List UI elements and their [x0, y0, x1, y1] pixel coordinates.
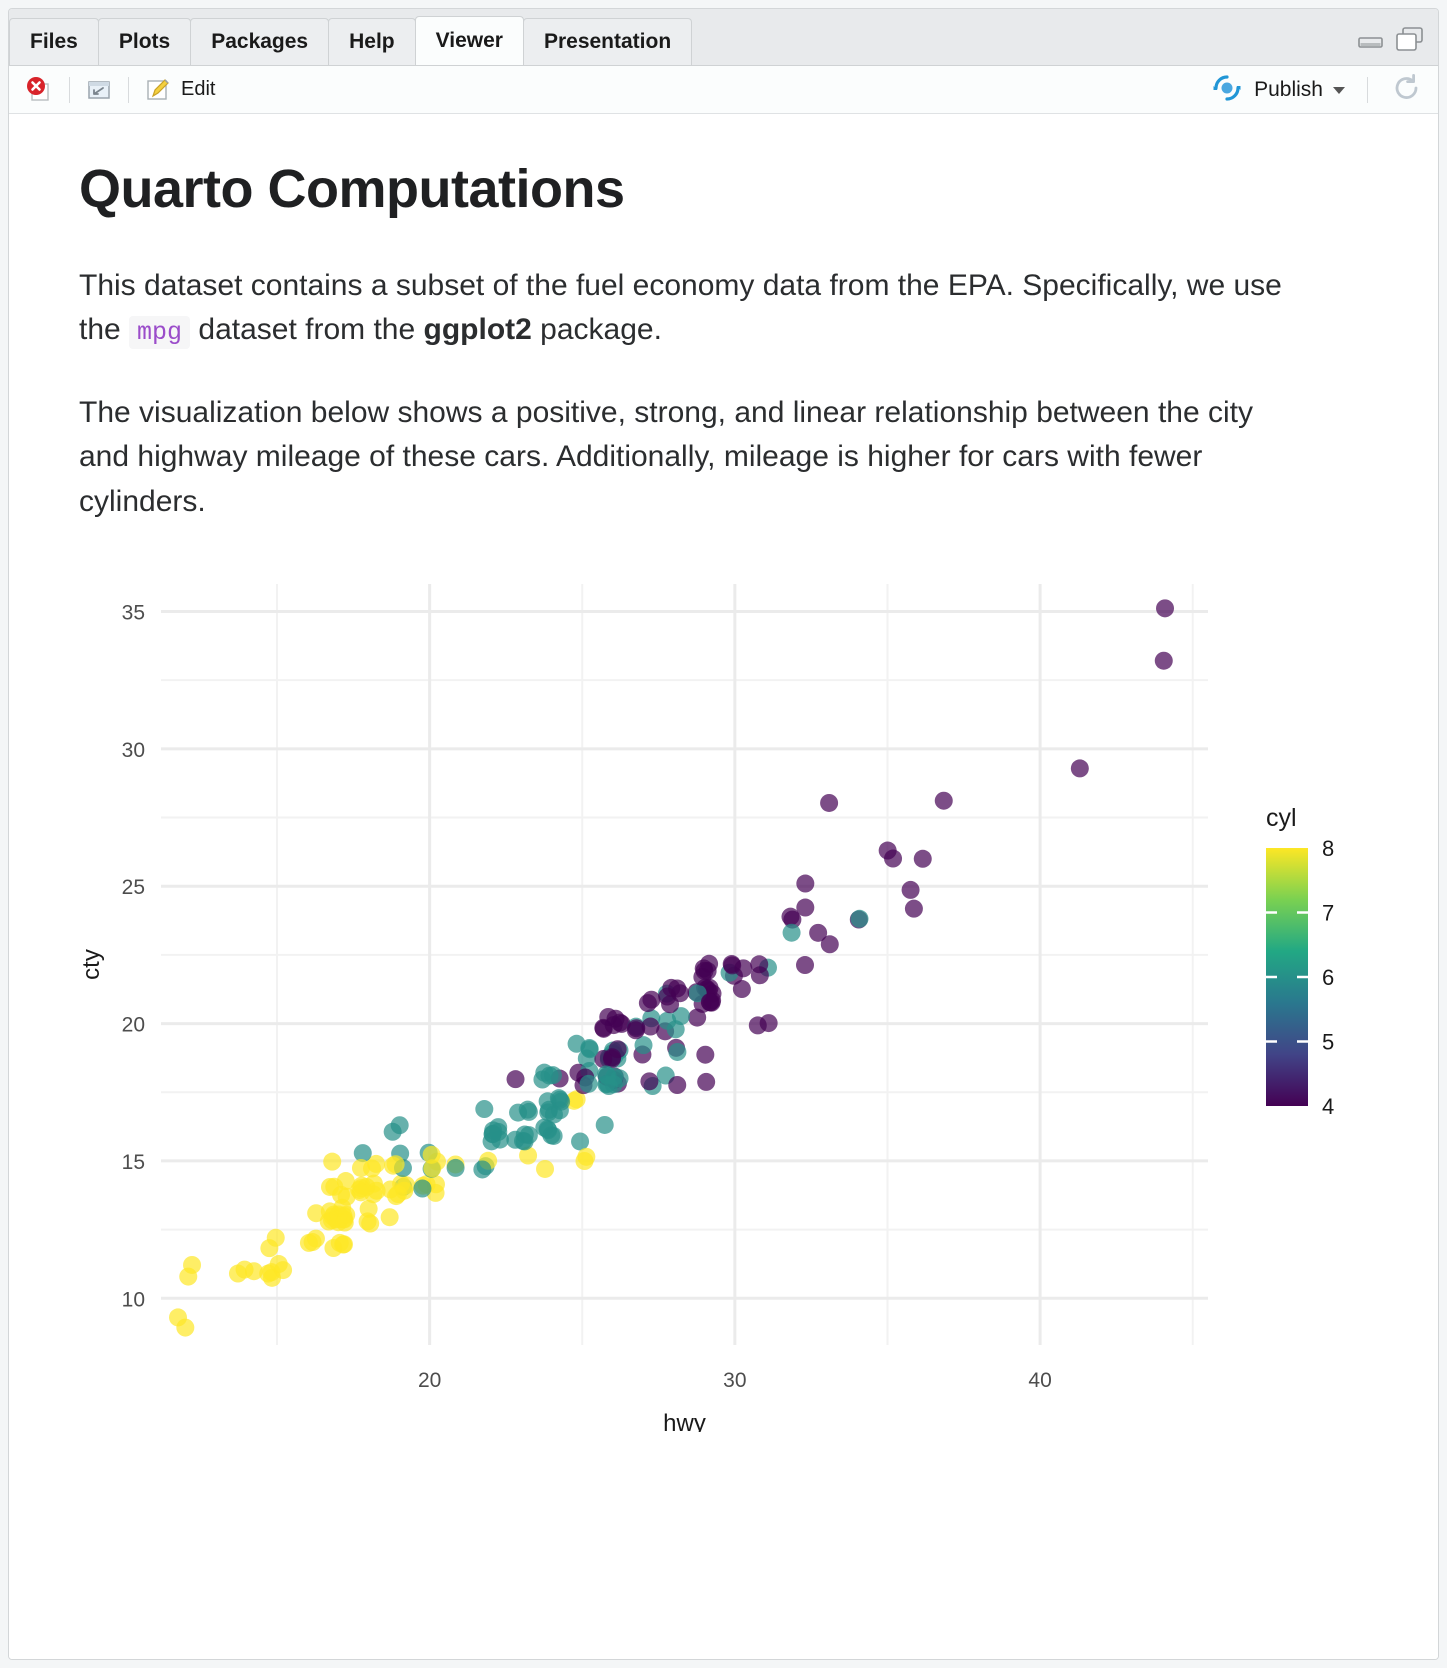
- data-point: [423, 1146, 441, 1164]
- data-point: [577, 1148, 595, 1166]
- tab-plots[interactable]: Plots: [98, 18, 191, 65]
- data-point: [902, 881, 920, 899]
- data-point: [536, 1160, 554, 1178]
- tab-help[interactable]: Help: [328, 18, 416, 65]
- data-point: [781, 908, 799, 926]
- pane-tab-bar: Files Plots Packages Help Viewer Present…: [9, 9, 1438, 66]
- x-axis-title: hwy: [663, 1410, 706, 1432]
- paragraph-description: The visualization below shows a positive…: [79, 391, 1294, 524]
- refresh-icon[interactable]: [1390, 72, 1424, 109]
- data-point: [325, 1178, 343, 1196]
- viewer-window: Files Plots Packages Help Viewer Present…: [8, 8, 1439, 1660]
- x-tick-label: 30: [723, 1369, 746, 1392]
- data-point: [820, 794, 838, 812]
- data-point: [696, 1046, 714, 1064]
- data-point: [229, 1264, 247, 1282]
- data-point: [697, 1073, 715, 1091]
- paragraph-intro-part2: dataset from the: [190, 313, 423, 346]
- maximize-icon[interactable]: [1396, 27, 1424, 58]
- data-point: [363, 1159, 381, 1177]
- data-point: [1155, 652, 1173, 670]
- data-point: [447, 1159, 465, 1177]
- data-point: [323, 1153, 341, 1171]
- y-tick-label: 15: [122, 1151, 145, 1174]
- cty-vs-hwy-scatterplot: 101520253035203040hwyctycyl45678: [73, 562, 1363, 1432]
- data-point: [389, 1185, 407, 1203]
- data-point: [489, 1123, 507, 1141]
- data-point: [361, 1214, 379, 1232]
- scatter-plot-figure: 101520253035203040hwyctycyl45678: [73, 562, 1363, 1432]
- data-point: [337, 1206, 355, 1224]
- data-point: [851, 910, 869, 928]
- data-point: [642, 991, 660, 1009]
- data-point: [668, 979, 686, 997]
- legend-title: cyl: [1266, 804, 1297, 832]
- data-point: [603, 1048, 621, 1066]
- data-point: [667, 1020, 685, 1038]
- chevron-down-icon[interactable]: [1333, 87, 1345, 94]
- viewer-toolbar: Edit Publish: [9, 66, 1438, 114]
- x-tick-label: 20: [418, 1369, 441, 1392]
- data-point: [914, 850, 932, 868]
- data-point: [668, 1076, 686, 1094]
- data-point: [796, 898, 814, 916]
- legend-tick-label: 6: [1322, 965, 1334, 990]
- data-point: [352, 1183, 370, 1201]
- tab-packages[interactable]: Packages: [190, 18, 329, 65]
- data-point: [307, 1204, 325, 1222]
- data-point: [796, 956, 814, 974]
- data-point: [300, 1234, 318, 1252]
- y-axis-title: cty: [78, 949, 105, 980]
- inline-code-mpg: mpg: [129, 316, 190, 349]
- y-tick-label: 35: [122, 601, 145, 624]
- legend-tick-label: 8: [1322, 836, 1334, 861]
- y-tick-label: 10: [122, 1288, 145, 1311]
- data-point: [905, 900, 923, 918]
- data-point: [749, 1016, 767, 1034]
- show-in-new-window-icon[interactable]: [82, 75, 116, 105]
- paragraph-intro-part3: package.: [532, 313, 662, 346]
- strong-ggplot2: ggplot2: [424, 313, 532, 346]
- data-point: [335, 1235, 353, 1253]
- data-point: [668, 1043, 686, 1061]
- data-point: [260, 1239, 278, 1257]
- data-point: [597, 1075, 615, 1093]
- toolbar-separator-3: [1367, 77, 1368, 103]
- publish-button-label[interactable]: Publish: [1254, 78, 1323, 102]
- y-tick-label: 20: [122, 1014, 145, 1037]
- data-point: [539, 1120, 557, 1138]
- data-point: [884, 849, 902, 867]
- data-point: [473, 1160, 491, 1178]
- legend-tick-label: 7: [1322, 900, 1334, 925]
- data-point: [796, 874, 814, 892]
- paragraph-intro: This dataset contains a subset of the fu…: [79, 264, 1294, 353]
- legend-tick-label: 5: [1322, 1029, 1334, 1054]
- toolbar-separator-1: [69, 77, 70, 103]
- data-point: [245, 1262, 263, 1280]
- data-point: [520, 1126, 538, 1144]
- window-controls: [1358, 27, 1424, 58]
- tab-presentation[interactable]: Presentation: [523, 18, 692, 65]
- data-point: [596, 1116, 614, 1134]
- data-point: [750, 955, 768, 973]
- data-point: [723, 956, 741, 974]
- data-point: [183, 1256, 201, 1274]
- data-point: [580, 1039, 598, 1057]
- data-point: [640, 1072, 658, 1090]
- tab-viewer[interactable]: Viewer: [415, 16, 524, 65]
- data-point: [1071, 759, 1089, 777]
- edit-button-label[interactable]: Edit: [181, 78, 215, 101]
- data-point: [594, 1019, 612, 1037]
- data-point: [693, 968, 711, 986]
- data-point: [368, 1182, 386, 1200]
- data-point: [391, 1116, 409, 1134]
- x-tick-label: 40: [1028, 1369, 1051, 1392]
- data-point: [507, 1070, 525, 1088]
- data-point: [509, 1104, 527, 1122]
- y-tick-label: 30: [122, 739, 145, 762]
- data-point: [661, 995, 679, 1013]
- legend-tick-label: 4: [1322, 1094, 1334, 1119]
- data-point: [176, 1319, 194, 1337]
- data-point: [701, 993, 719, 1011]
- toolbar-separator-2: [128, 77, 129, 103]
- viewer-content: Quarto Computations This dataset contain…: [9, 114, 1438, 1659]
- data-point: [580, 1075, 598, 1093]
- minimize-icon[interactable]: [1358, 30, 1384, 55]
- data-point: [571, 1132, 589, 1150]
- y-tick-label: 25: [122, 876, 145, 899]
- page-title: Quarto Computations: [79, 158, 1368, 220]
- data-point: [783, 924, 801, 942]
- data-point: [935, 792, 953, 810]
- data-point: [1156, 599, 1174, 617]
- data-point: [387, 1155, 405, 1173]
- data-point: [539, 1103, 557, 1121]
- data-point: [821, 935, 839, 953]
- publish-icon[interactable]: [1210, 74, 1244, 107]
- data-point: [413, 1179, 431, 1197]
- tab-files[interactable]: Files: [9, 18, 99, 65]
- stop-red-icon[interactable]: [23, 75, 57, 105]
- data-point: [541, 1067, 559, 1085]
- edit-pencil-icon[interactable]: [141, 75, 175, 105]
- data-point: [381, 1208, 399, 1226]
- data-point: [475, 1100, 493, 1118]
- data-point: [274, 1261, 292, 1279]
